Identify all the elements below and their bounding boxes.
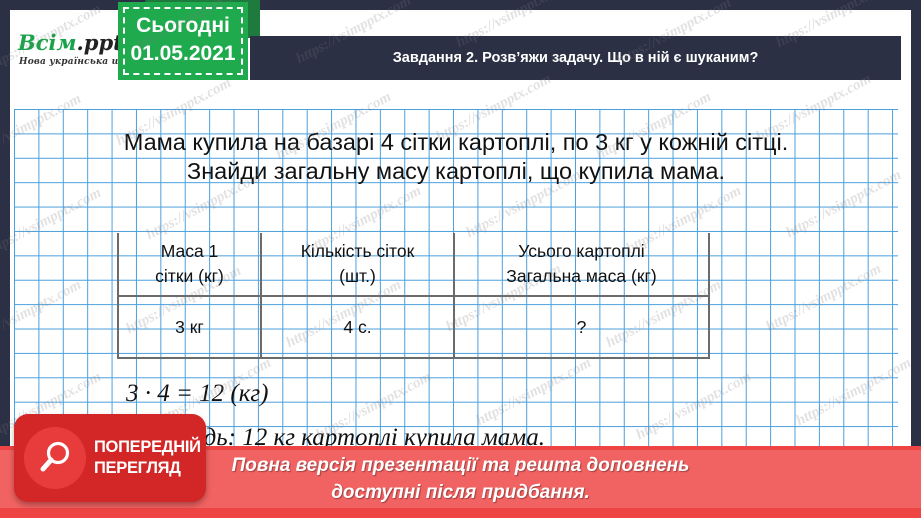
table-header-cell-count-line1: Кількість сіток — [301, 239, 415, 264]
solution-expression: 3 · 4 = 12 (кг) — [126, 380, 268, 408]
task-header-bar: Завдання 2. Розв’яжи задачу. Що в ній є … — [250, 36, 901, 80]
table-row: 3 кг 4 с. ? — [119, 297, 708, 357]
problem-line-2: Знайди загальну масу картоплі, що купила… — [14, 157, 898, 186]
problem-statement: Мама купила на базарі 4 сітки картоплі, … — [14, 128, 898, 186]
logo-name: Всім — [18, 30, 76, 55]
table-header-cell-total-line1: Усього картоплі — [518, 239, 644, 264]
solution-table: Маса 1 сітки (кг) Кількість сіток (шт.) … — [117, 233, 710, 359]
today-date: 01.05.2021 — [118, 42, 248, 66]
table-header-cell-mass-line2: сітки (кг) — [155, 264, 224, 289]
preview-badge-line-2: ПЕРЕГЛЯД — [94, 458, 201, 479]
table-cell-total-value: ? — [455, 297, 708, 357]
preview-badge[interactable]: ПОПЕРЕДНІЙ ПЕРЕГЛЯД — [14, 414, 206, 502]
table-header-cell-mass: Маса 1 сітки (кг) — [119, 233, 262, 295]
table-header-cell-count: Кількість сіток (шт.) — [262, 233, 455, 295]
logo-dot: . — [76, 30, 83, 55]
preview-badge-line-1: ПОПЕРЕДНІЙ — [94, 437, 201, 458]
problem-line-1: Мама купила на базарі 4 сітки картоплі, … — [14, 128, 898, 157]
site-logo[interactable]: Всім.pptx Нова українська школа — [10, 28, 135, 82]
table-header-cell-total: Усього картоплі Загальна маса (кг) — [455, 233, 708, 295]
preview-badge-label: ПОПЕРЕДНІЙ ПЕРЕГЛЯД — [94, 437, 201, 479]
table-header-cell-total-line2: Загальна маса (кг) — [506, 264, 656, 289]
today-label: Сьогодні — [118, 14, 248, 38]
today-date-badge: Сьогодні 01.05.2021 — [118, 2, 248, 80]
table-cell-mass-value: 3 кг — [119, 297, 262, 357]
task-title: Завдання 2. Розв’яжи задачу. Що в ній є … — [393, 50, 759, 66]
table-header-cell-mass-line1: Маса 1 — [161, 239, 219, 264]
table-cell-count-value: 4 с. — [262, 297, 455, 357]
table-header-row: Маса 1 сітки (кг) Кількість сіток (шт.) … — [119, 233, 708, 297]
slide-canvas: Всім.pptx Нова українська школа Сьогодні… — [0, 0, 921, 518]
magnifier-icon — [24, 427, 86, 489]
table-header-cell-count-line2: (шт.) — [339, 264, 376, 289]
